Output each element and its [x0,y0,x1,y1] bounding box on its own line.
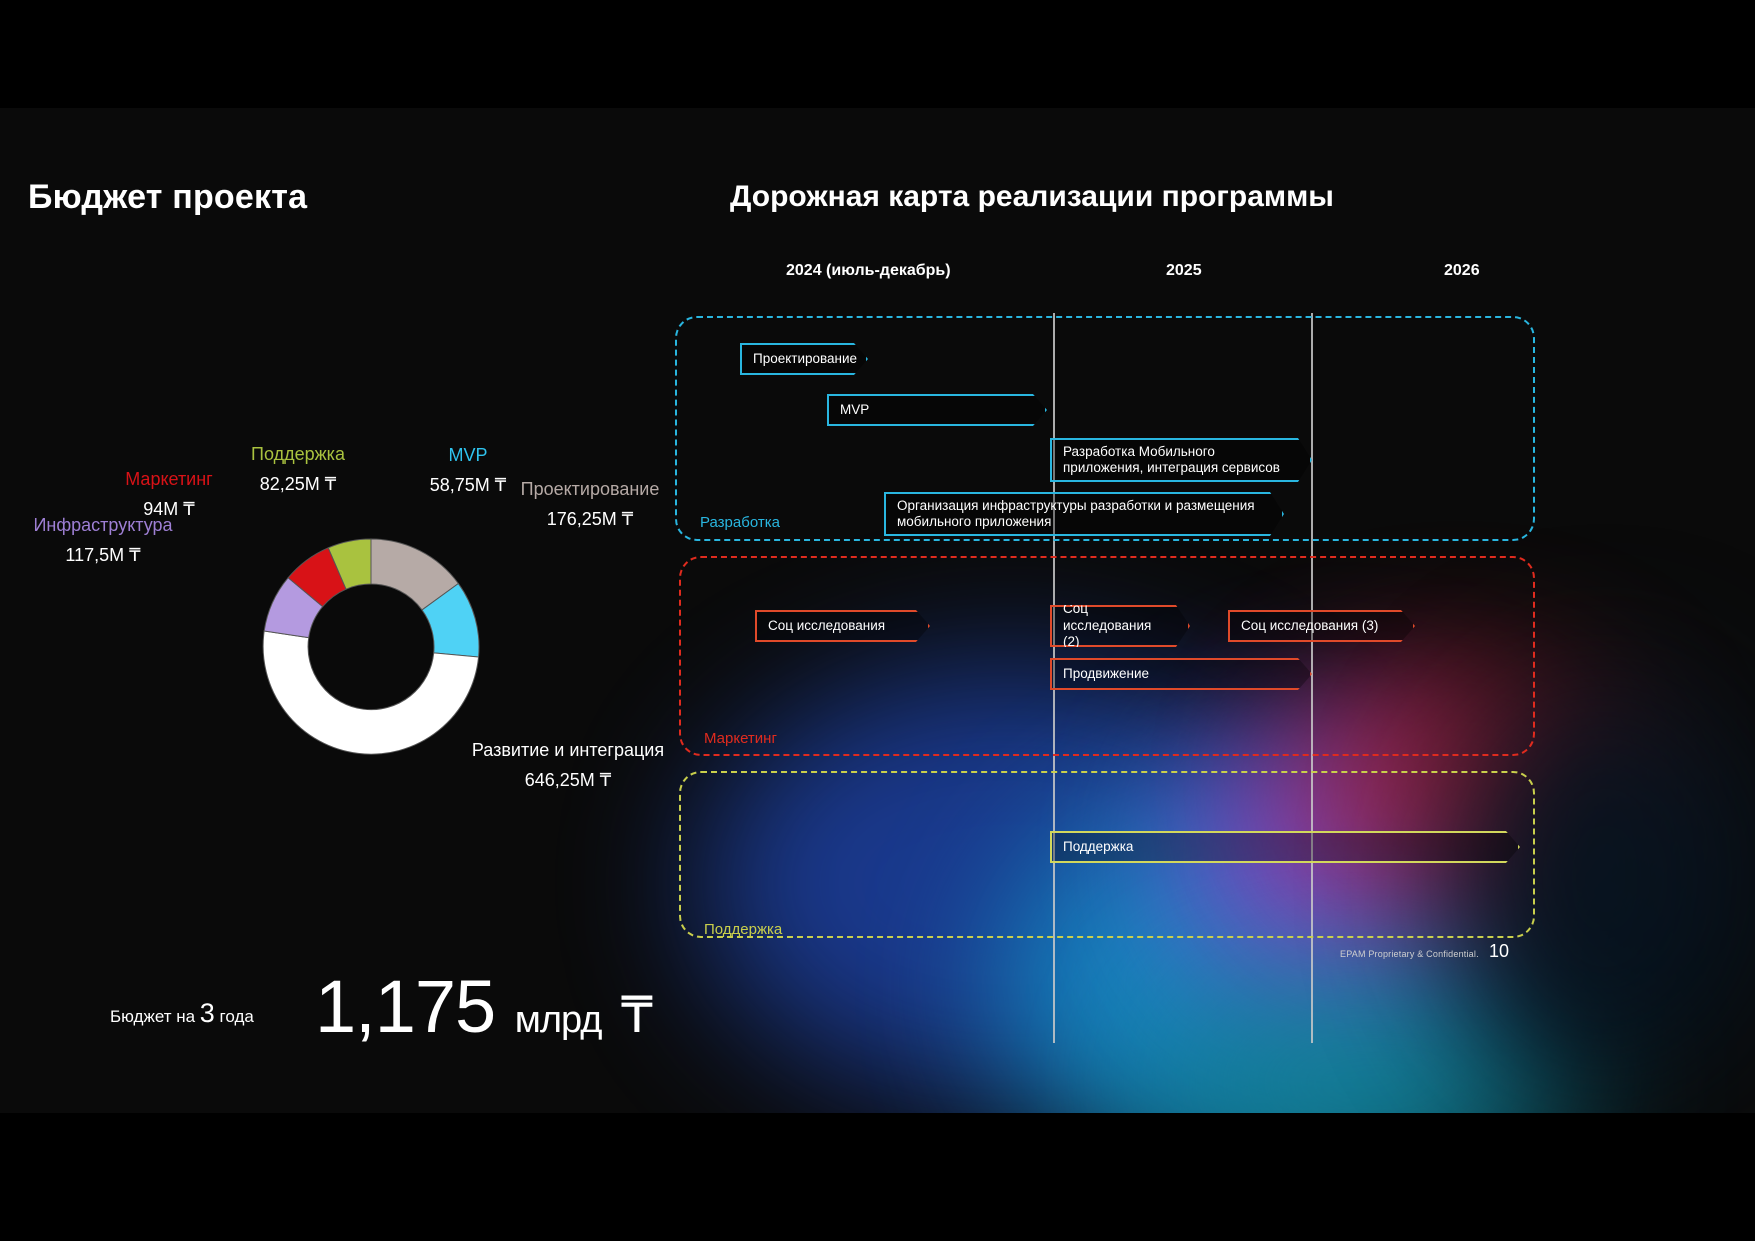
chart-label-podderzhka-value: 82,25M ₸ [233,474,363,495]
slide-page-number: 10 [1489,941,1509,962]
roadmap-task-infrastructure-label: Организация инфраструктуры разработки и … [886,498,1282,531]
budget-total-caption: Бюджет на 3 года [110,998,254,1029]
footer-confidential: EPAM Proprietary & Confidential. [1340,949,1479,959]
chart-label-podderzhka-name: Поддержка [251,444,345,464]
roadmap-lane-label-podderzhka: Поддержка [704,921,782,938]
budget-total-caption-pre: Бюджет на [110,1007,200,1026]
budget-total-caption-post: года [215,1007,254,1026]
roadmap-task-soc-research-3-label: Соц исследования (3) [1230,618,1398,634]
roadmap-task-proektirovanie[interactable]: Проектирование [740,343,868,375]
chart-label-proektirovanie: Проектирование 176,25M ₸ [510,479,670,530]
chart-label-mvp-name: MVP [448,445,487,465]
roadmap-lane-label-marketing: Маркетинг [704,730,777,747]
chart-label-infrastruktura: Инфраструктура 117,5M ₸ [33,515,173,566]
donut-svg [247,523,495,771]
background-glow-teal [1150,968,1600,1113]
roadmap-task-promotion[interactable]: Продвижение [1050,658,1312,690]
roadmap-task-soc-research-1[interactable]: Соц исследования [755,610,930,642]
chart-label-proektirovanie-name: Проектирование [521,479,660,499]
chart-label-razvitie-name: Развитие и интеграция [472,740,664,760]
budget-total-value-group: 1,175 млрд ₸ [315,964,652,1049]
chart-label-infrastruktura-name: Инфраструктура [33,515,172,535]
chart-label-marketing: Маркетинг 94M ₸ [114,469,224,520]
chart-label-mvp: MVP 58,75M ₸ [413,445,523,496]
chart-label-podderzhka: Поддержка 82,25M ₸ [233,444,363,495]
budget-total-row: Бюджет на 3 года 1,175 млрд ₸ [110,963,670,1043]
roadmap-task-support-label: Поддержка [1052,839,1153,855]
roadmap-task-proektirovanie-label: Проектирование [742,351,877,367]
budget-total-number: 1,175 [315,965,495,1048]
roadmap-task-soc-research-1-label: Соц исследования [757,618,905,634]
roadmap-task-infrastructure[interactable]: Организация инфраструктуры разработки и … [884,492,1284,536]
roadmap-task-mobile-app-label: Разработка Мобильного приложения, интегр… [1052,444,1310,477]
budget-total-currency: ₸ [621,987,652,1043]
roadmap-task-soc-research-2[interactable]: Соц исследования (2) [1050,605,1190,647]
roadmap-lane-marketing [679,556,1535,756]
roadmap-task-promotion-label: Продвижение [1052,666,1169,682]
budget-total-unit: млрд [515,999,602,1041]
roadmap-task-mvp[interactable]: MVP [827,394,1047,426]
roadmap-year-2025: 2025 [1166,262,1202,280]
roadmap-lane-label-razrabotka: Разработка [700,514,780,531]
roadmap-task-support[interactable]: Поддержка [1050,831,1520,863]
chart-label-mvp-value: 58,75M ₸ [413,475,523,496]
roadmap-task-soc-research-2-label: Соц исследования (2) [1052,601,1188,650]
chart-label-marketing-name: Маркетинг [125,469,213,489]
slide-canvas: Бюджет проекта Поддержка 82,25M ₸ Марк [0,108,1755,1113]
roadmap-task-mvp-label: MVP [829,402,889,418]
chart-label-razvitie-value: 646,25M ₸ [468,770,668,791]
budget-donut-chart [247,523,495,771]
chart-label-proektirovanie-value: 176,25M ₸ [510,509,670,530]
roadmap-title: Дорожная карта реализации программы [730,180,1334,214]
roadmap-year-2024: 2024 (июль-декабрь) [786,262,951,280]
chart-label-razvitie-integraciya: Развитие и интеграция 646,25M ₸ [468,740,668,791]
roadmap-year-2026: 2026 [1444,262,1480,280]
roadmap-task-mobile-app[interactable]: Разработка Мобильного приложения, интегр… [1050,438,1312,482]
budget-title: Бюджет проекта [28,178,307,217]
budget-total-years: 3 [200,998,215,1028]
chart-label-infrastruktura-value: 117,5M ₸ [33,545,173,566]
roadmap-task-soc-research-3[interactable]: Соц исследования (3) [1228,610,1415,642]
